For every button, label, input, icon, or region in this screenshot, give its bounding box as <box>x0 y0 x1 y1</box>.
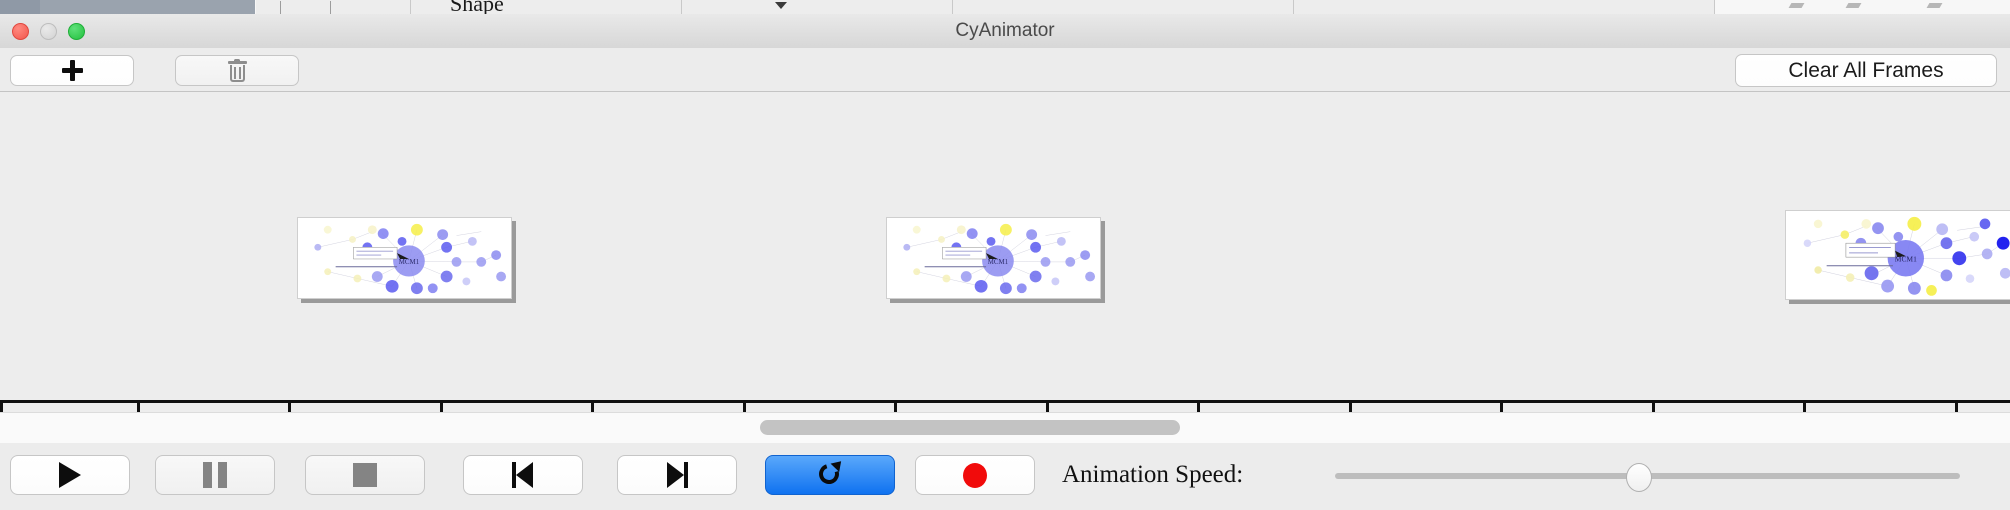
background-chunk <box>682 0 953 14</box>
clear-all-frames-button[interactable]: Clear All Frames <box>1735 54 1997 87</box>
toolbar: Clear All Frames <box>0 48 2010 92</box>
svg-text:MCM1: MCM1 <box>399 259 420 266</box>
scrollbar-thumb[interactable] <box>760 420 1180 435</box>
network-graph-icon: MCM1 <box>298 218 511 298</box>
play-icon <box>59 462 81 488</box>
step-forward-button[interactable] <box>617 455 737 495</box>
timeline-axis <box>0 400 2010 403</box>
stop-button[interactable] <box>305 455 425 495</box>
background-tick <box>280 1 281 14</box>
chevron-icon <box>1927 3 1943 8</box>
background-chunk <box>1294 0 1715 14</box>
pause-button[interactable] <box>155 455 275 495</box>
window-title: CyAnimator <box>0 14 2010 48</box>
chevron-icon <box>1789 3 1805 8</box>
frame-thumbnail[interactable]: MCM1 <box>1785 210 2010 300</box>
cyanimator-window: Shape CyAnimator Clear All Frames <box>0 0 2010 510</box>
skip-back-icon <box>512 462 534 488</box>
loop-button[interactable] <box>765 455 895 495</box>
plus-icon <box>61 59 84 82</box>
play-button[interactable] <box>10 455 130 495</box>
trash-icon <box>228 59 247 82</box>
thumbnail-image: MCM1 <box>1785 210 2010 300</box>
background-arrow-icon <box>775 2 787 9</box>
background-window-strip: Shape <box>0 0 2010 15</box>
frame-thumbnail[interactable]: MCM1 <box>886 217 1101 299</box>
network-graph-icon: MCM1 <box>887 218 1100 298</box>
network-graph-icon: MCM1 <box>1786 211 2010 299</box>
pause-icon <box>203 462 227 488</box>
timeline-panel[interactable]: MCM1 <box>0 92 2010 412</box>
record-button[interactable] <box>915 455 1035 495</box>
chevron-icon <box>1846 3 1862 8</box>
record-icon <box>963 463 987 488</box>
stop-icon <box>353 463 377 487</box>
thumbnail-image: MCM1 <box>297 217 512 299</box>
playback-bar: Animation Speed: <box>0 443 2010 510</box>
animation-speed-label: Animation Speed: <box>1062 455 1243 495</box>
step-back-button[interactable] <box>463 455 583 495</box>
background-chunk <box>953 0 1294 14</box>
loop-icon <box>817 461 844 490</box>
background-chunk <box>0 0 40 14</box>
timeline-scrollbar[interactable] <box>0 412 2010 444</box>
skip-forward-icon <box>666 462 688 488</box>
animation-speed-slider-thumb[interactable] <box>1626 463 1652 492</box>
svg-text:MCM1: MCM1 <box>988 259 1009 266</box>
delete-frame-button[interactable] <box>175 55 299 86</box>
title-bar[interactable]: CyAnimator <box>0 14 2010 49</box>
background-chunk <box>40 0 255 14</box>
background-tick <box>330 1 331 14</box>
frame-thumbnail[interactable]: MCM1 <box>297 217 512 299</box>
thumbnail-image: MCM1 <box>886 217 1101 299</box>
add-frame-button[interactable] <box>10 55 134 86</box>
background-window-label: Shape <box>450 0 504 15</box>
